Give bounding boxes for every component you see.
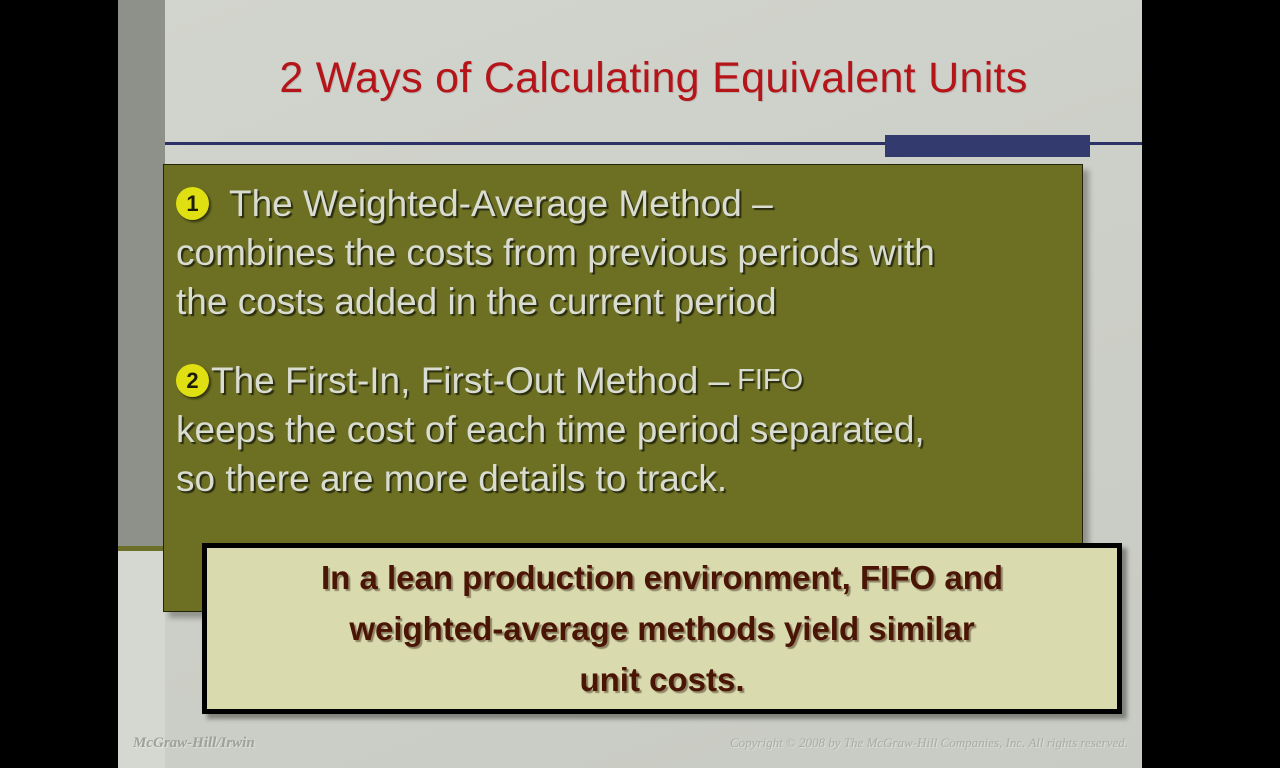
bullet-2-line-2: so there are more details to track. [176,454,1064,503]
callout-box: In a lean production environment, FIFO a… [202,543,1122,714]
bullet-2-heading: 2 The First-In, First-Out Method – FIFO [176,356,1064,405]
callout-line-2: weighted-average methods yield similar [349,603,974,654]
bullet-2-heading-text: The First-In, First-Out Method – [211,356,729,405]
bullet-1-heading-text: The Weighted-Average Method – [229,179,773,228]
title-accent-block [885,135,1090,157]
bullet-item-1: 1 The Weighted-Average Method – combines… [176,179,1064,326]
bullet-number-2-icon: 2 [176,364,209,397]
callout-line-1: In a lean production environment, FIFO a… [321,552,1003,603]
bullet-1-line-1: combines the costs from previous periods… [176,228,1064,277]
callout-line-3: unit costs. [579,654,744,705]
bullet-1-heading: 1 The Weighted-Average Method – [176,179,1064,228]
footer-publisher: McGraw-Hill/Irwin [133,735,255,752]
bullet-item-2: 2 The First-In, First-Out Method – FIFO … [176,356,1064,503]
slide-title-area: 2 Ways of Calculating Equivalent Units [165,38,1142,118]
footer-copyright: Copyright © 2008 by The McGraw-Hill Comp… [730,735,1128,751]
slide-root: 2 Ways of Calculating Equivalent Units 1… [0,0,1280,768]
bullet-2-heading-suffix: FIFO [737,356,803,405]
page-title: 2 Ways of Calculating Equivalent Units [279,54,1027,103]
bullet-number-1-icon: 1 [176,187,209,220]
bullet-2-line-1: keeps the cost of each time period separ… [176,405,1064,454]
bullet-1-line-2: the costs added in the current period [176,277,1064,326]
left-decorative-band-upper [118,0,165,546]
slide-canvas: 2 Ways of Calculating Equivalent Units 1… [118,0,1142,768]
